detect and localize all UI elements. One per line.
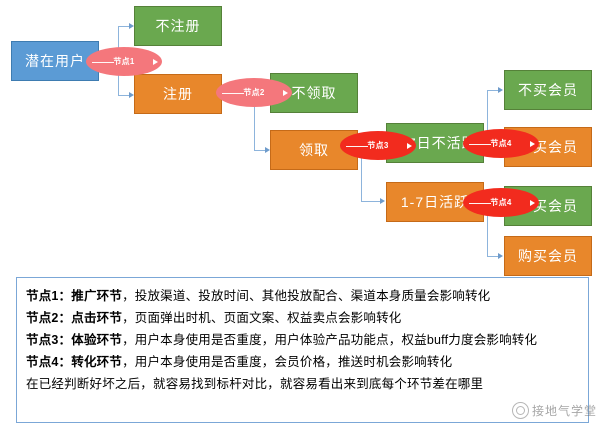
legend-summary: 在已经判断好坏之后，就容易找到标杆对比，就容易看出来到底每个环节差在哪里	[26, 373, 579, 395]
box-label: 不注册	[156, 16, 201, 36]
legend-rest: ，用户本身使用是否重度，会员价格，推送时机会影响转化	[122, 355, 452, 369]
node-label: 节点4	[490, 197, 511, 208]
node-line-icon	[346, 146, 368, 147]
box-label: 领取	[299, 140, 329, 160]
legend-key: 节点4：	[26, 355, 71, 369]
node-marker-3[interactable]: 节点3	[340, 131, 416, 160]
node-arrow-icon	[530, 200, 535, 206]
flowchart-canvas: 潜在用户 不注册 注册 不领取 领取 1-7日不活跃 1-7日活跃 不买会员 购…	[0, 0, 605, 433]
watermark-text: 接地气学堂	[532, 402, 597, 419]
box-no-signup[interactable]: 不注册	[134, 6, 222, 46]
box-signup[interactable]: 注册	[134, 74, 222, 114]
box-buy-membership-2[interactable]: 购买会员	[504, 236, 592, 276]
arrow-to-no-buy-1	[498, 87, 503, 93]
legend-key: 节点1：	[26, 289, 71, 303]
legend-panel: 节点1：推广环节，投放渠道、投放时间、其他投放配合、渠道本身质量会影响转化 节点…	[16, 277, 589, 423]
legend-bold: 体验环节	[71, 333, 122, 347]
box-label: 不买会员	[518, 80, 578, 100]
node-marker-4[interactable]: 节点4	[463, 129, 539, 158]
box-label: 1-7日活跃	[401, 192, 469, 212]
box-label: 注册	[163, 84, 193, 104]
legend-bold: 点击环节	[71, 311, 122, 325]
box-label: 购买会员	[518, 246, 578, 266]
legend-row-3: 节点3：体验环节，用户本身使用是否重度，用户体验产品功能点，权益buff力度会影…	[26, 329, 579, 351]
legend-rest: ，页面弹出时机、页面文案、权益卖点会影响转化	[122, 311, 401, 325]
box-label: 不领取	[292, 83, 337, 103]
connector-to-active	[361, 201, 381, 202]
node-arrow-icon	[153, 59, 158, 65]
node-arrow-icon	[407, 143, 412, 149]
node-arrow-icon	[283, 90, 288, 96]
legend-key: 节点2：	[26, 311, 71, 325]
node-arrow-icon	[530, 141, 535, 147]
node-line-icon	[222, 93, 244, 94]
box-label: 潜在用户	[25, 51, 85, 71]
node-label: 节点4	[490, 138, 511, 149]
node-label: 节点1	[113, 56, 134, 67]
node-marker-1[interactable]: 节点1	[86, 47, 162, 76]
node-marker-5[interactable]: 节点4	[463, 188, 539, 217]
legend-row-1: 节点1：推广环节，投放渠道、投放时间、其他投放配合、渠道本身质量会影响转化	[26, 285, 579, 307]
legend-bold: 推广环节	[71, 289, 122, 303]
node-line-icon	[469, 144, 491, 145]
legend-rest: ，用户本身使用是否重度，用户体验产品功能点，权益buff力度会影响转化	[122, 333, 537, 347]
legend-key: 节点3：	[26, 333, 71, 347]
legend-rest: ，投放渠道、投放时间、其他投放配合、渠道本身质量会影响转化	[122, 289, 490, 303]
legend-row-2: 节点2：点击环节，页面弹出时机、页面文案、权益卖点会影响转化	[26, 307, 579, 329]
node-label: 节点2	[243, 87, 264, 98]
node-line-icon	[92, 62, 114, 63]
node-line-icon	[469, 203, 491, 204]
node-label: 节点3	[367, 140, 388, 151]
watermark: 接地气学堂	[512, 402, 597, 419]
watermark-logo-icon	[512, 402, 529, 419]
arrow-to-active	[380, 198, 385, 204]
legend-row-4: 节点4：转化环节，用户本身使用是否重度，会员价格，推送时机会影响转化	[26, 351, 579, 373]
legend-bold: 转化环节	[71, 355, 122, 369]
box-no-buy-membership-1[interactable]: 不买会员	[504, 70, 592, 110]
node-marker-2[interactable]: 节点2	[216, 78, 292, 107]
arrow-to-buy-2	[498, 253, 503, 259]
